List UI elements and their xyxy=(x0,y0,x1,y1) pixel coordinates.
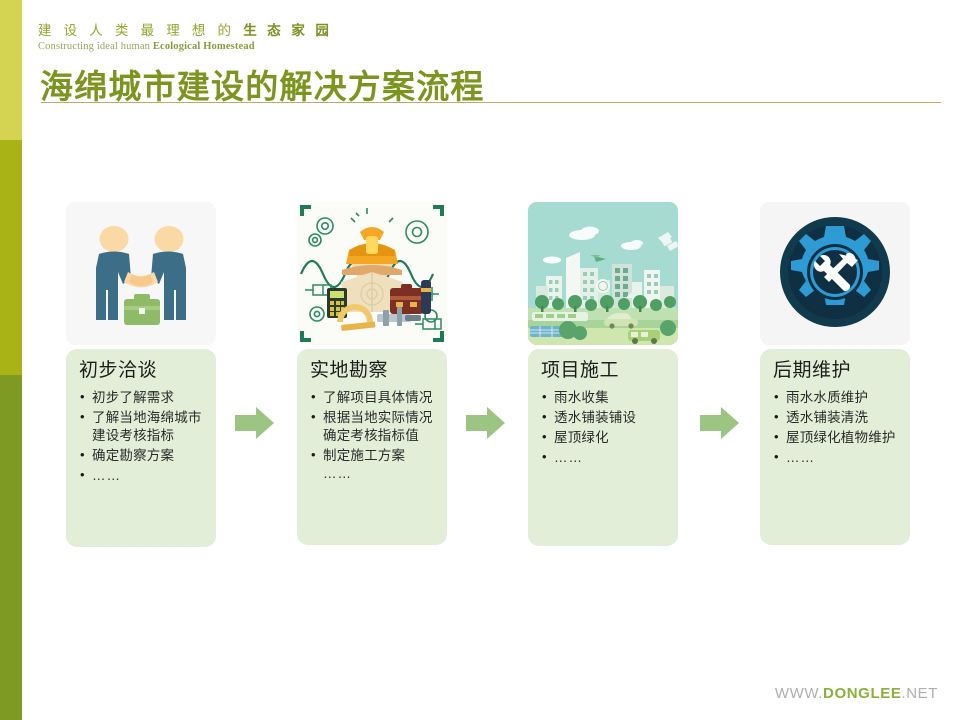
flow-step-bullets-3: 雨水收集 透水铺装铺设 屋顶绿化 …… xyxy=(528,389,678,467)
arrow-right-icon xyxy=(700,406,740,440)
eco-city-icon xyxy=(528,202,678,345)
gear-tools-icon xyxy=(760,202,910,345)
flow-step-title-4: 后期维护 xyxy=(773,359,910,383)
list-item: 屋顶绿化植物维护 xyxy=(774,429,901,447)
flow-step-card-1[interactable]: 初步洽谈 初步了解需求 了解当地海绵城市建设考核指标 确定勘察方案 …… xyxy=(66,202,216,547)
list-item-trailing: …… xyxy=(323,465,438,483)
flow-step-title-3: 项目施工 xyxy=(541,359,678,383)
flow-step-body-2: 实地勘察 了解项目具体情况 根据当地实际情况确定考核指标值 制定施工方案…… xyxy=(297,349,447,545)
list-item: 根据当地实际情况确定考核指标值 xyxy=(311,409,438,445)
list-item: 了解当地海绵城市建设考核指标 xyxy=(80,409,207,445)
watermark-suffix: .NET xyxy=(901,685,938,702)
flow-step-bullets-4: 雨水水质维护 透水铺装清洗 屋顶绿化植物维护 …… xyxy=(760,389,910,467)
flow-step-body-3: 项目施工 雨水收集 透水铺装铺设 屋顶绿化 …… xyxy=(528,349,678,546)
flow-step-title-1: 初步洽谈 xyxy=(79,359,216,383)
list-item: 透水铺装铺设 xyxy=(542,409,669,427)
arrow-right-icon xyxy=(466,406,506,440)
slide-canvas: 建 设 人 类 最 理 想 的 生 态 家 园 Constructing ide… xyxy=(0,0,960,720)
list-item: 初步了解需求 xyxy=(80,389,207,407)
site-watermark: WWW.DONGLEE.NET xyxy=(775,685,938,702)
list-item-text: 制定施工方案 xyxy=(323,448,405,463)
list-item: …… xyxy=(542,449,669,467)
watermark-prefix: WWW. xyxy=(775,685,823,702)
flow-step-card-4[interactable]: 后期维护 雨水水质维护 透水铺装清洗 屋顶绿化植物维护 …… xyxy=(760,202,910,545)
site-survey-icon xyxy=(297,202,447,345)
flow-step-card-3[interactable]: 项目施工 雨水收集 透水铺装铺设 屋顶绿化 …… xyxy=(528,202,678,546)
flow-step-title-2: 实地勘察 xyxy=(310,359,447,383)
watermark-brand: DONGLEE xyxy=(823,685,901,702)
handshake-icon xyxy=(66,202,216,345)
flow-step-card-2[interactable]: 实地勘察 了解项目具体情况 根据当地实际情况确定考核指标值 制定施工方案…… xyxy=(297,202,447,545)
flow-step-bullets-2: 了解项目具体情况 根据当地实际情况确定考核指标值 制定施工方案…… xyxy=(297,389,447,483)
flow-step-body-4: 后期维护 雨水水质维护 透水铺装清洗 屋顶绿化植物维护 …… xyxy=(760,349,910,545)
list-item: 雨水收集 xyxy=(542,389,669,407)
list-item: 屋顶绿化 xyxy=(542,429,669,447)
list-item: 透水铺装清洗 xyxy=(774,409,901,427)
flow-step-bullets-1: 初步了解需求 了解当地海绵城市建设考核指标 确定勘察方案 …… xyxy=(66,389,216,485)
arrow-right-icon xyxy=(235,406,275,440)
flow-step-body-1: 初步洽谈 初步了解需求 了解当地海绵城市建设考核指标 确定勘察方案 …… xyxy=(66,349,216,547)
list-item: 了解项目具体情况 xyxy=(311,389,438,407)
process-flow: 初步洽谈 初步了解需求 了解当地海绵城市建设考核指标 确定勘察方案 …… xyxy=(0,0,960,720)
list-item: …… xyxy=(774,449,901,467)
list-item: 雨水水质维护 xyxy=(774,389,901,407)
list-item: 制定施工方案…… xyxy=(311,447,438,483)
list-item: …… xyxy=(80,467,207,485)
list-item: 确定勘察方案 xyxy=(80,447,207,465)
